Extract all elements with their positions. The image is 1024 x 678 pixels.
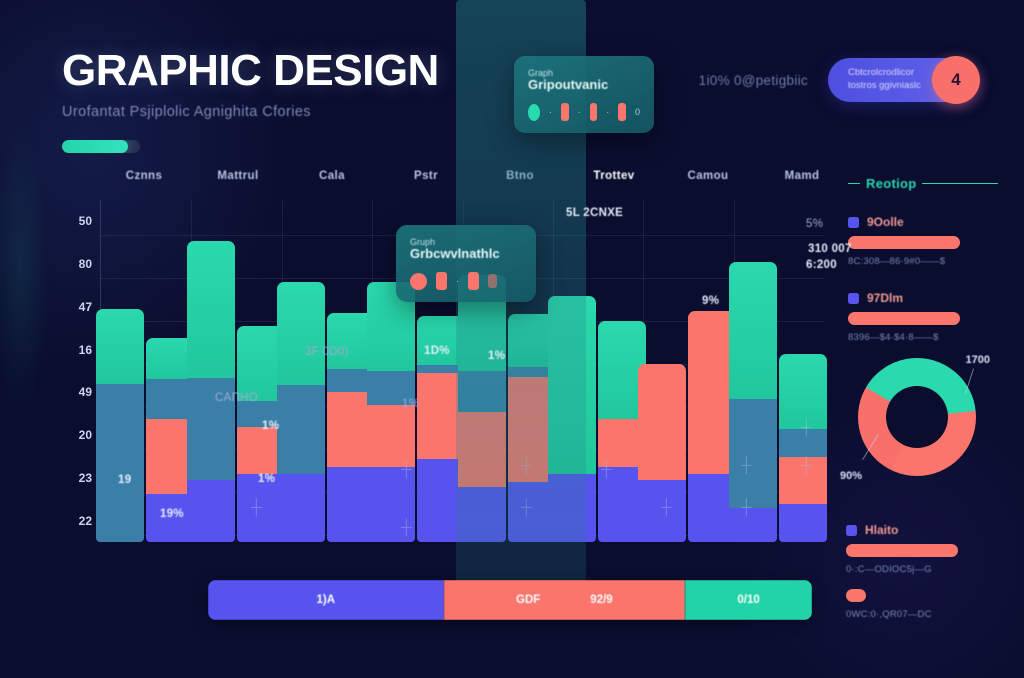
bar-0-0[interactable] bbox=[96, 309, 144, 542]
legend-sublabel: 0WC:0·,QR07—DC bbox=[846, 609, 998, 620]
notification-badge[interactable]: 4 bbox=[932, 56, 980, 104]
legend-item[interactable]: Hlaito 0·:C—ODIOC5j—G bbox=[846, 523, 998, 575]
bar-value-label-9: 5L 2CNXE bbox=[566, 207, 623, 219]
pill-line-1: Cbtcrolcrodlicor bbox=[848, 67, 914, 78]
legend-item[interactable]: 97Dlm 8396—$4·$4·8——$ bbox=[848, 291, 998, 343]
bar-chip-icon bbox=[618, 103, 626, 121]
progress-segment-1[interactable]: GDF92/9 bbox=[444, 580, 686, 620]
grid-tick-marker: ┼ bbox=[741, 458, 752, 473]
donut-label-bottom: 90% bbox=[840, 470, 862, 482]
donut-ring bbox=[858, 358, 976, 476]
bar-segment-teal bbox=[187, 241, 235, 378]
bar-segment-indigo bbox=[277, 474, 325, 542]
bar-segment-indigo bbox=[187, 480, 235, 542]
bar-value-label-12: 310 007 bbox=[808, 243, 852, 255]
bar-segment-indigo bbox=[548, 474, 596, 542]
legend-swatch-icon bbox=[846, 525, 857, 536]
topright-pill-button[interactable]: Cbtcrolcrodlicor tostros ggivniaslc 4 bbox=[828, 58, 978, 102]
column-header-7[interactable]: Mamd bbox=[785, 170, 820, 182]
separator-dot-icon: · bbox=[456, 276, 459, 286]
column-header-0[interactable]: Cznns bbox=[126, 170, 163, 182]
bottom-stacked-progress[interactable]: 1)AGDF92/90/10 bbox=[208, 580, 812, 620]
bar-segment-steel bbox=[277, 385, 325, 474]
bar-value-label-6: 1D% bbox=[424, 345, 450, 357]
card-legend-row-top: · · · 0 bbox=[528, 103, 640, 121]
donut-hole bbox=[886, 386, 948, 448]
bar-chip-icon bbox=[436, 272, 447, 290]
grid-tick-marker: ┼ bbox=[801, 420, 812, 435]
bar-group-3[interactable] bbox=[367, 282, 465, 542]
bar-group-2[interactable] bbox=[277, 282, 375, 542]
grid-tick-marker: ┼ bbox=[521, 500, 532, 515]
y-axis-tick-4: 49 bbox=[79, 385, 92, 399]
y-axis-tick-7: 22 bbox=[79, 514, 92, 528]
progress-segment-label: GDF bbox=[516, 594, 540, 606]
dash-icon bbox=[922, 183, 998, 185]
legend-label: 97Dlm bbox=[867, 291, 903, 305]
bar-value-label-4: 1% bbox=[258, 473, 275, 485]
bar-value-label-11: 5% bbox=[806, 218, 823, 230]
bar-7-1[interactable] bbox=[779, 354, 827, 542]
progress-segment-2[interactable]: 0/10 bbox=[685, 580, 812, 620]
y-axis-tick-2: 47 bbox=[79, 300, 92, 314]
pill-line-2: tostros ggivniaslc bbox=[848, 80, 921, 91]
bar-group-5[interactable] bbox=[548, 296, 646, 542]
progress-segment-label-2: 92/9 bbox=[590, 594, 612, 606]
legend-bar bbox=[846, 544, 958, 557]
topright-label: 1i0% 0@petigbiic bbox=[699, 73, 808, 88]
dash-icon bbox=[848, 183, 860, 185]
bar-chip-icon bbox=[590, 103, 598, 121]
y-axis-tick-6: 23 bbox=[79, 471, 92, 485]
floating-card-mid[interactable]: Gruph Grbcwvlnathlc · bbox=[396, 225, 536, 302]
y-axis-tick-5: 20 bbox=[79, 428, 92, 442]
card-legend-row-mid: · bbox=[410, 272, 522, 290]
card-trailing-0: 0 bbox=[635, 107, 640, 117]
page-title: GRAPHIC DESIGN bbox=[62, 48, 439, 94]
bar-segment-indigo bbox=[729, 508, 777, 542]
bar-7-0[interactable] bbox=[729, 262, 777, 542]
donut-label-top: 1700 bbox=[966, 354, 990, 366]
bar-value-label-7: 1% bbox=[488, 350, 505, 362]
grid-tick-marker: ┼ bbox=[521, 458, 532, 473]
separator-dot-icon: · bbox=[578, 107, 581, 117]
bar-value-label-2: CAПНО bbox=[215, 392, 258, 404]
header: GRAPHIC DESIGN Urofantat Psjiplolic Agni… bbox=[62, 48, 439, 153]
bar-segment-teal bbox=[779, 354, 827, 429]
column-headers: CznnsMattrulCalaPstrBtnoTrottevCamouMamd bbox=[100, 168, 852, 194]
grid-tick-marker: ┼ bbox=[251, 500, 262, 515]
y-axis-tick-1: 80 bbox=[79, 257, 92, 271]
separator-dot-icon: · bbox=[606, 107, 609, 117]
bar-value-label-10: 9% bbox=[702, 295, 719, 307]
grid-tick-marker: ┼ bbox=[401, 462, 412, 477]
progress-segment-label: 0/10 bbox=[737, 594, 759, 606]
column-header-3[interactable]: Pstr bbox=[414, 170, 438, 182]
bar-segment-steel bbox=[458, 371, 506, 412]
bar-value-label-3: 1% bbox=[262, 420, 279, 432]
legend-sublabel: 0·:C—ODIOC5j—G bbox=[846, 564, 998, 575]
legend-label: Hlaito bbox=[865, 523, 898, 537]
column-header-2[interactable]: Cala bbox=[319, 170, 345, 182]
right-panel-heading: Reotiop bbox=[848, 176, 998, 191]
column-header-5[interactable]: Trottev bbox=[593, 170, 634, 182]
column-header-1[interactable]: Mattrul bbox=[217, 170, 258, 182]
header-progress-fill bbox=[62, 140, 128, 153]
separator-dot-icon: · bbox=[549, 107, 552, 117]
circle-icon bbox=[528, 104, 540, 121]
legend-label: 9Oolle bbox=[867, 215, 904, 229]
progress-segment-label: 1)A bbox=[317, 594, 336, 606]
bar-segment-indigo bbox=[779, 504, 827, 542]
bar-chip-icon bbox=[468, 272, 479, 290]
card-title-mid: Gruph Grbcwvlnathlc bbox=[410, 237, 522, 262]
legend-swatch-icon bbox=[848, 293, 859, 304]
background-glow-teal bbox=[0, 120, 50, 420]
bar-value-label-13: 6:200 bbox=[806, 259, 837, 271]
bar-segment-teal bbox=[277, 282, 325, 385]
bottom-right-legend: Hlaito 0·:C—ODIOC5j—G 0WC:0·,QR07—DC bbox=[846, 523, 998, 620]
card-title-big-1: Grbcwvlnathlc bbox=[410, 247, 522, 262]
right-legend-panel: Reotiop 9Oolle 8C:308—86·9#0——$ 97Dlm 83… bbox=[848, 176, 998, 343]
circle-icon bbox=[410, 273, 427, 290]
floating-card-top[interactable]: Graph Gripoutvanic · · · 0 bbox=[514, 56, 654, 133]
bar-chip-icon bbox=[488, 274, 497, 288]
bar-value-label-0: 19 bbox=[118, 474, 131, 486]
bar-value-label-5: 3F 0D0) bbox=[305, 346, 349, 358]
bar-segment-steel bbox=[729, 399, 777, 508]
legend-bar bbox=[848, 236, 960, 249]
bar-chip-icon bbox=[561, 103, 569, 121]
grid-tick-marker: ┼ bbox=[661, 500, 672, 515]
bar-group-4[interactable] bbox=[458, 275, 556, 542]
y-axis-tick-3: 16 bbox=[79, 343, 92, 357]
bar-segment-coral bbox=[638, 364, 686, 480]
donut-chart[interactable]: 1700 90% bbox=[844, 358, 994, 488]
bar-segment-teal bbox=[96, 309, 144, 384]
card-title-big-0: Gripoutvanic bbox=[528, 78, 640, 93]
bar-3-0[interactable] bbox=[367, 282, 415, 542]
bar-2-0[interactable] bbox=[277, 282, 325, 542]
bar-segment-indigo bbox=[458, 487, 506, 542]
legend-sublabel: 8C:308—86·9#0——$ bbox=[848, 256, 998, 267]
header-actions: 1i0% 0@petigbiic Cbtcrolcrodlicor tostro… bbox=[699, 58, 978, 102]
right-panel-title: Reotiop bbox=[866, 176, 916, 191]
y-axis-labels: 5080471649202322 bbox=[62, 200, 98, 542]
legend-swatch-icon bbox=[848, 217, 859, 228]
bar-segment-teal bbox=[729, 262, 777, 399]
header-progress-bar[interactable] bbox=[62, 140, 140, 153]
bar-5-0[interactable] bbox=[548, 296, 596, 542]
bar-4-0[interactable] bbox=[458, 275, 506, 542]
page-subtitle: Urofantat Psjiplolic Agnighita Cfories bbox=[62, 104, 439, 120]
legend-sublabel: 8396—$4·$4·8——$ bbox=[848, 332, 998, 343]
bar-segment-coral bbox=[458, 412, 506, 487]
bar-value-label-1: 19% bbox=[160, 508, 184, 520]
legend-item[interactable]: 9Oolle 8C:308—86·9#0——$ bbox=[848, 215, 998, 267]
bar-segment-coral bbox=[367, 405, 415, 467]
column-header-4[interactable]: Btno bbox=[506, 170, 534, 182]
card-title-top: Graph Gripoutvanic bbox=[528, 68, 640, 93]
legend-item[interactable]: 0WC:0·,QR07—DC bbox=[846, 589, 998, 620]
bar-value-label-8: 1% bbox=[402, 398, 419, 410]
bar-segment-steel bbox=[96, 384, 144, 542]
grid-tick-marker: ┼ bbox=[801, 458, 812, 473]
grid-tick-marker: ┼ bbox=[601, 462, 612, 477]
legend-bar bbox=[848, 312, 960, 325]
bar-segment-teal bbox=[548, 296, 596, 474]
bar-group-6[interactable] bbox=[638, 311, 736, 542]
grid-tick-marker: ┼ bbox=[741, 500, 752, 515]
y-axis-tick-0: 50 bbox=[79, 214, 92, 228]
legend-bar bbox=[846, 589, 866, 602]
grid-tick-marker: ┼ bbox=[401, 520, 412, 535]
column-header-6[interactable]: Camou bbox=[688, 170, 729, 182]
progress-segment-0[interactable]: 1)A bbox=[208, 580, 444, 620]
